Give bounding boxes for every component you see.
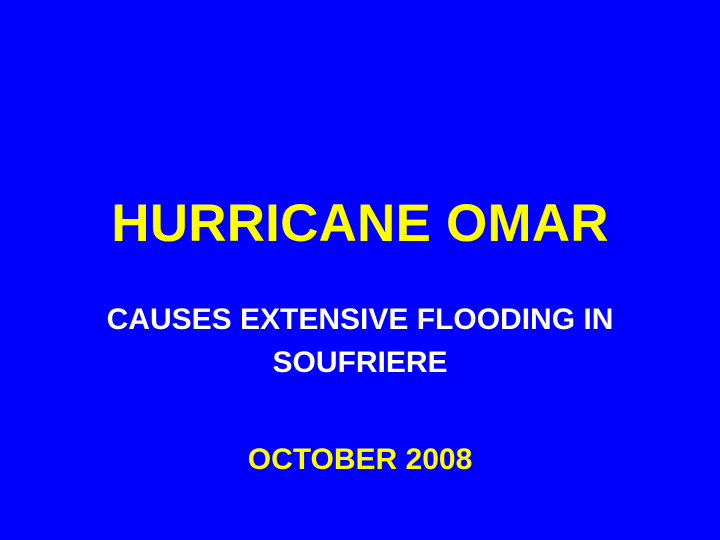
slide-subtitle-line-1: CAUSES EXTENSIVE FLOODING IN bbox=[75, 298, 645, 341]
subtitle-placeholder[interactable]: CAUSES EXTENSIVE FLOODING IN SOUFRIERE bbox=[75, 298, 645, 414]
slide-date: OCTOBER 2008 bbox=[36, 438, 684, 481]
slide-title: HURRICANE OMAR bbox=[36, 196, 684, 252]
slide-content-area: HURRICANE OMAR CAUSES EXTENSIVE FLOODING… bbox=[0, 0, 720, 540]
slide-subtitle-line-2: SOUFRIERE bbox=[75, 341, 645, 384]
subtitle-blank-line bbox=[75, 384, 645, 414]
presentation-slide: HURRICANE OMAR CAUSES EXTENSIVE FLOODING… bbox=[0, 0, 720, 540]
date-placeholder[interactable]: OCTOBER 2008 bbox=[36, 438, 684, 481]
title-placeholder[interactable]: HURRICANE OMAR bbox=[36, 196, 684, 252]
